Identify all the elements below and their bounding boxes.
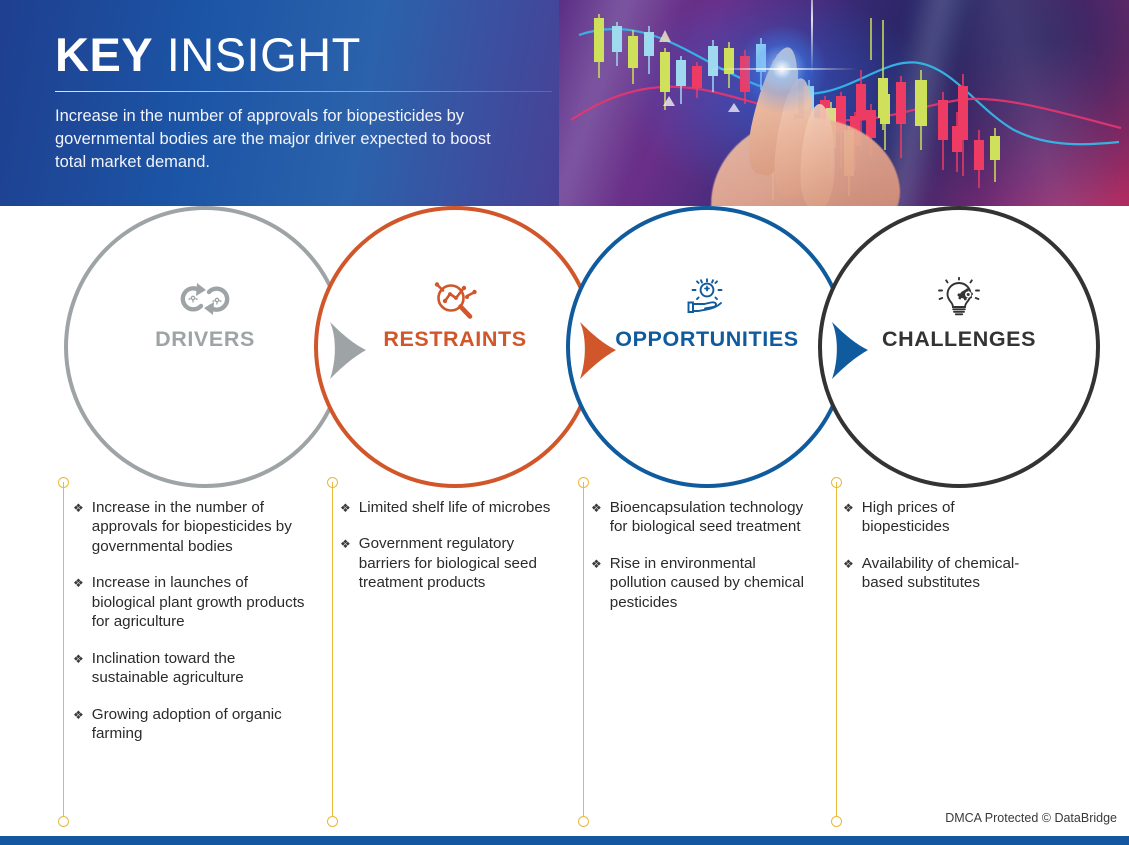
page-title: KEY INSIGHT (55, 30, 575, 79)
pin-line (836, 482, 837, 822)
footer-bar (0, 836, 1129, 845)
title-divider (55, 91, 552, 92)
pin-opportunities (578, 477, 589, 827)
glow-ray (811, 0, 813, 74)
list-challenges: ❖ High prices of biopesticides ❖ Availab… (843, 498, 1043, 610)
insight-stage: DRIVERS (0, 206, 1129, 826)
circular-arrows-icon (68, 276, 342, 322)
bullet-marker: ❖ (843, 554, 854, 593)
list-item: ❖ Rise in environmental pollution caused… (591, 554, 807, 612)
list-item-text: Inclination toward the sustainable agric… (92, 649, 309, 688)
pin-challenges (831, 477, 842, 827)
list-item: ❖ Increase in launches of biological pla… (73, 573, 309, 631)
magnifier-analytics-icon (318, 276, 592, 322)
header-text-block: KEY INSIGHT Increase in the number of ap… (55, 30, 575, 174)
bullet-marker: ❖ (843, 498, 854, 537)
list-item: ❖ Government regulatory barriers for bio… (340, 534, 562, 592)
pin-dot-bottom (327, 816, 338, 827)
list-item: ❖ High prices of biopesticides (843, 498, 1043, 537)
pin-drivers (58, 477, 69, 827)
list-item: ❖ Increase in the number of approvals fo… (73, 498, 309, 556)
circle-drivers[interactable]: DRIVERS (64, 206, 346, 488)
list-item-text: High prices of biopesticides (862, 498, 1043, 537)
pin-dot-bottom (831, 816, 842, 827)
bullet-marker: ❖ (73, 705, 84, 744)
pin-line (583, 482, 584, 822)
title-bold-word: KEY (55, 28, 153, 81)
list-drivers: ❖ Increase in the number of approvals fo… (73, 498, 309, 761)
pin-line (63, 482, 64, 822)
bullet-marker: ❖ (591, 554, 602, 612)
list-restraints: ❖ Limited shelf life of microbes ❖ Gover… (340, 498, 562, 610)
pin-restraints (327, 477, 338, 827)
chevron-restraints-to-opportunities (578, 322, 618, 379)
list-item-text: Bioencapsulation technology for biologic… (610, 498, 807, 537)
bullet-marker: ❖ (340, 498, 351, 517)
circle-drivers-content: DRIVERS (68, 276, 342, 352)
list-item-text: Increase in launches of biological plant… (92, 573, 309, 631)
list-item: ❖ Growing adoption of organic farming (73, 705, 309, 744)
bullet-marker: ❖ (73, 573, 84, 631)
pin-line (332, 482, 333, 822)
list-item-text: Government regulatory barriers for biolo… (359, 534, 562, 592)
list-item-text: Rise in environmental pollution caused b… (610, 554, 807, 612)
pin-dot-bottom (58, 816, 69, 827)
bullet-marker: ❖ (591, 498, 602, 537)
lightbulb-gear-icon (822, 276, 1096, 322)
bullet-marker: ❖ (340, 534, 351, 592)
hand-holding-sun-icon (570, 276, 844, 322)
list-item: ❖ Limited shelf life of microbes (340, 498, 562, 517)
header-banner: KEY INSIGHT Increase in the number of ap… (0, 0, 1129, 206)
list-item-text: Availability of chemical-based substitut… (862, 554, 1043, 593)
list-item-text: Growing adoption of organic farming (92, 705, 309, 744)
chevron-opportunities-to-challenges (830, 322, 870, 379)
list-item-text: Increase in the number of approvals for … (92, 498, 309, 556)
bullet-marker: ❖ (73, 649, 84, 688)
pin-dot-bottom (578, 816, 589, 827)
header-photo (559, 0, 1129, 206)
list-item: ❖ Availability of chemical-based substit… (843, 554, 1043, 593)
bullet-marker: ❖ (73, 498, 84, 556)
list-opportunities: ❖ Bioencapsulation technology for biolog… (591, 498, 807, 629)
list-item: ❖ Inclination toward the sustainable agr… (73, 649, 309, 688)
header-subtitle: Increase in the number of approvals for … (55, 105, 525, 173)
chevron-drivers-to-restraints (328, 322, 368, 379)
list-item: ❖ Bioencapsulation technology for biolog… (591, 498, 807, 537)
circle-drivers-label: DRIVERS (68, 327, 342, 352)
title-light-word: INSIGHT (153, 28, 361, 81)
dmca-credit: DMCA Protected © DataBridge (945, 811, 1117, 825)
glow-ray (707, 68, 857, 70)
list-item-text: Limited shelf life of microbes (359, 498, 551, 517)
